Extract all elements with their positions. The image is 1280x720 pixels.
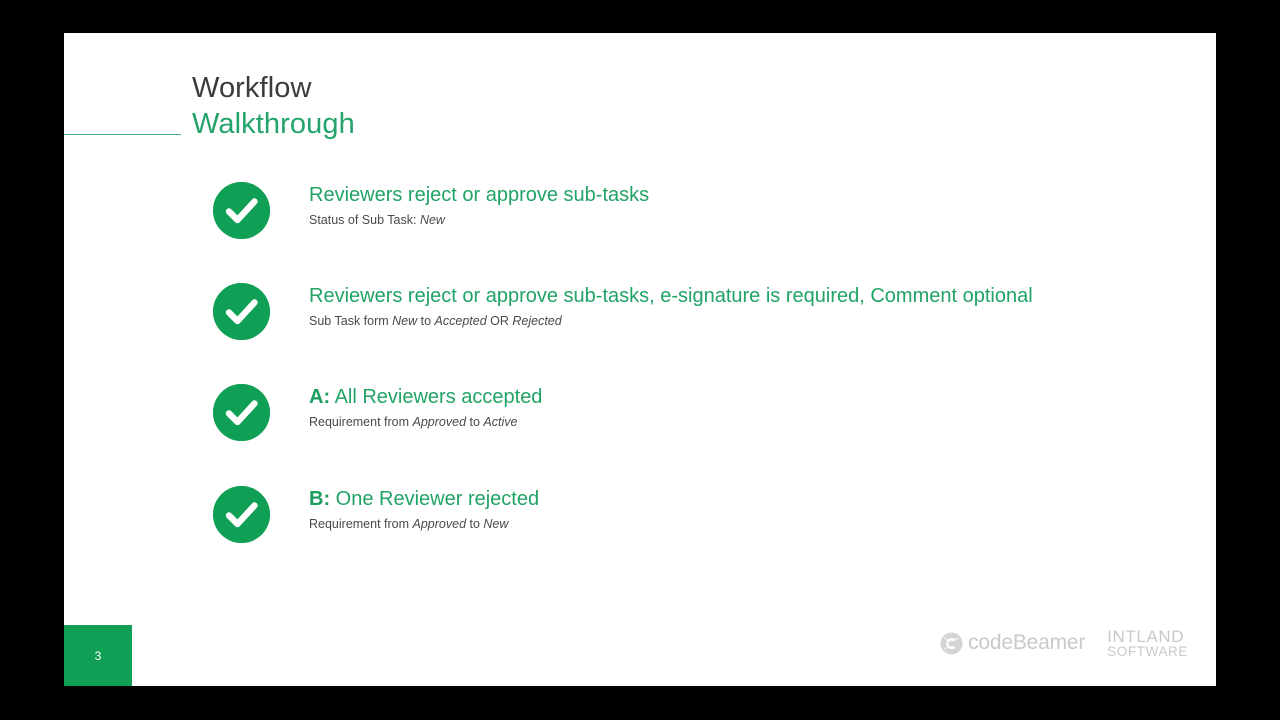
list-item-subtitle: Requirement from Approved to Active [309,414,542,430]
list-item-title-text: All Reviewers accepted [330,386,542,408]
subtitle-mid-1: to [466,517,483,531]
list-item-title-text: Reviewers reject or approve sub-tasks [309,184,649,206]
intland-wordmark-line1: INTLAND [1107,628,1188,645]
subtitle-prefix: Requirement from [309,517,413,531]
subtitle-state-2: Accepted [435,314,487,328]
list-item-text: Reviewers reject or approve sub-tasks, e… [309,284,1033,329]
list-item-title: B: One Reviewer rejected [309,487,539,512]
list-item-subtitle: Requirement from Approved to New [309,516,539,532]
list-item: Reviewers reject or approve sub-tasks, e… [213,283,1193,384]
check-circle-icon [213,486,270,543]
list-item: Reviewers reject or approve sub-tasks St… [213,182,1193,283]
list-item-title-text: Reviewers reject or approve sub-tasks, e… [309,285,1033,307]
list-item-text: Reviewers reject or approve sub-tasks St… [309,183,649,228]
list-item: B: One Reviewer rejected Requirement fro… [213,486,1193,588]
list-item-lead: A: [309,386,330,408]
presentation-slide: Workflow Walkthrough Reviewers reject or… [64,33,1216,686]
title-accent-rule [64,134,181,135]
list-item-lead: B: [309,488,330,510]
check-circle-icon [213,182,270,239]
footer-logos: codeBeamer INTLAND SOFTWARE [940,628,1188,659]
subtitle-state-1: New [392,314,417,328]
subtitle-prefix: Sub Task form [309,314,392,328]
subtitle-mid-2: OR [487,314,513,328]
page-title-primary: Workflow [192,71,355,107]
subtitle-mid-1: to [466,415,483,429]
subtitle-prefix: Requirement from [309,415,413,429]
subtitle-state-3: Rejected [512,314,561,328]
list-item-title: Reviewers reject or approve sub-tasks [309,183,649,208]
list-item-text: A: All Reviewers accepted Requirement fr… [309,385,542,430]
subtitle-state-1: Approved [413,415,467,429]
subtitle-state-2: Active [483,415,517,429]
subtitle-prefix: Status of Sub Task: [309,213,420,227]
intland-software-logo: INTLAND SOFTWARE [1107,628,1188,659]
page-title-secondary: Walkthrough [192,107,355,143]
check-circle-icon [213,283,270,340]
intland-wordmark-line2: SOFTWARE [1107,645,1188,659]
slide-title-block: Workflow Walkthrough [192,71,355,143]
subtitle-state-1: New [420,213,445,227]
list-item-title-text: One Reviewer rejected [330,488,539,510]
codebeamer-logo: codeBeamer [940,631,1085,655]
list-item-subtitle: Status of Sub Task: New [309,212,649,228]
list-item: A: All Reviewers accepted Requirement fr… [213,384,1193,486]
subtitle-state-1: Approved [413,517,467,531]
list-item-title: Reviewers reject or approve sub-tasks, e… [309,284,1033,309]
check-circle-icon [213,384,270,441]
subtitle-mid-1: to [417,314,434,328]
page-number-badge: 3 [64,625,132,686]
subtitle-state-2: New [483,517,508,531]
codebeamer-wordmark: codeBeamer [968,631,1085,655]
list-item-text: B: One Reviewer rejected Requirement fro… [309,487,539,532]
codebeamer-globe-icon [940,632,963,655]
workflow-step-list: Reviewers reject or approve sub-tasks St… [213,182,1193,588]
video-frame: Workflow Walkthrough Reviewers reject or… [0,0,1280,720]
list-item-subtitle: Sub Task form New to Accepted OR Rejecte… [309,313,1033,329]
list-item-title: A: All Reviewers accepted [309,385,542,410]
